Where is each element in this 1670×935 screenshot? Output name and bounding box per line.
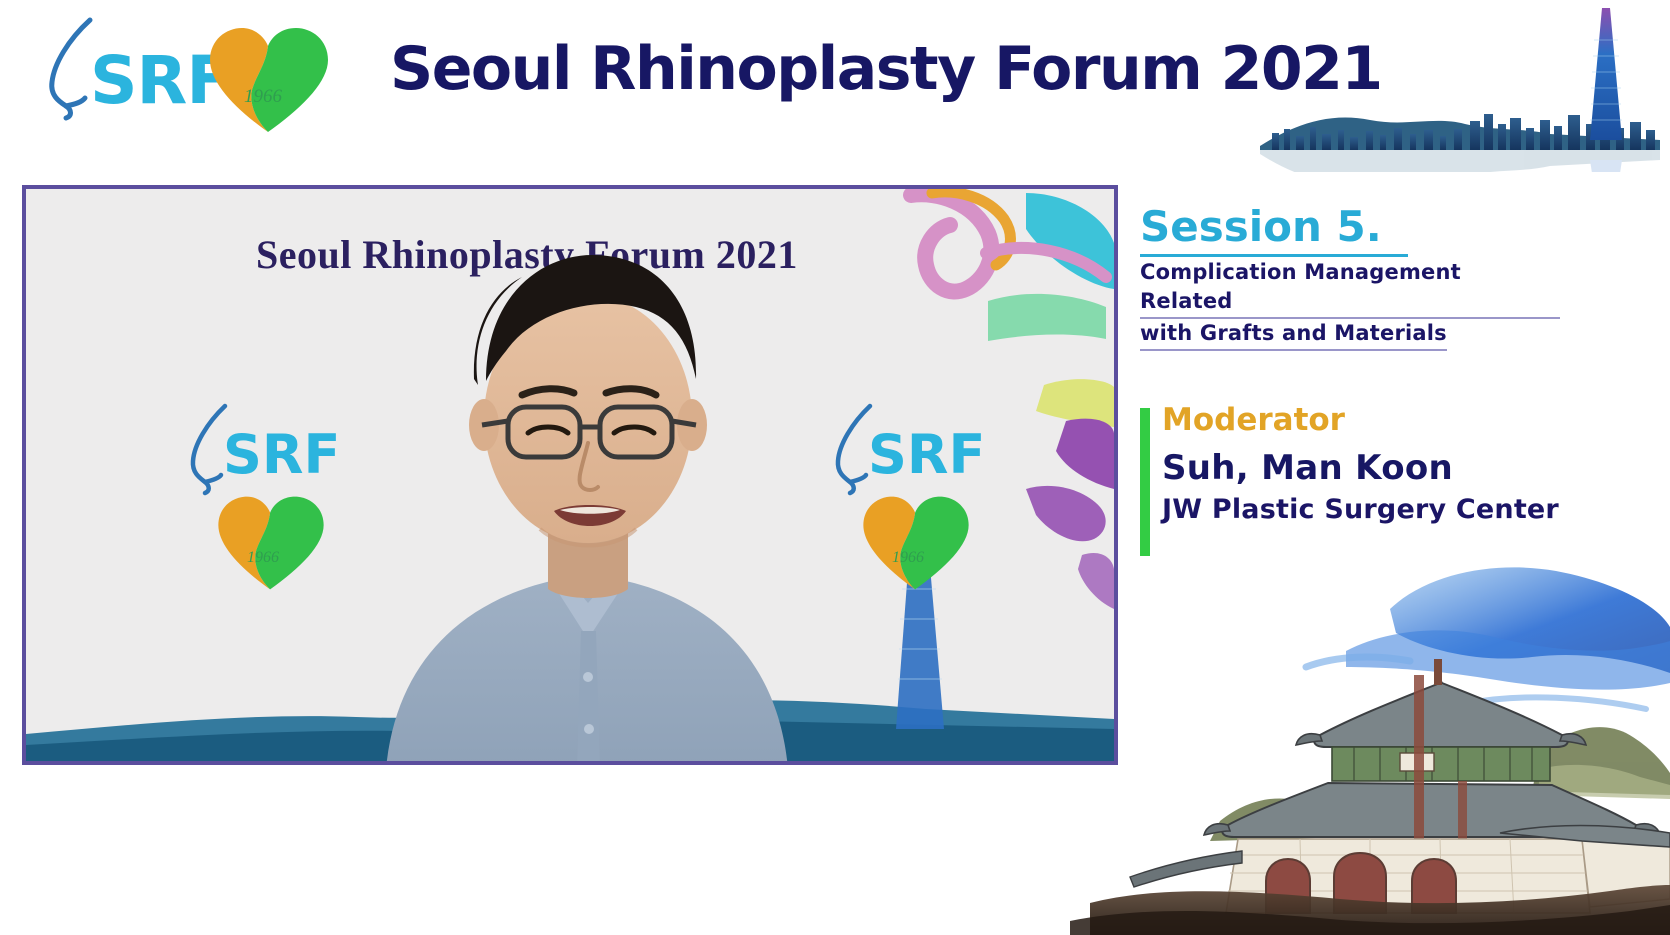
- moderator-accent-bar: [1140, 408, 1150, 556]
- session-number-heading: Session 5.: [1140, 202, 1382, 251]
- seoul-skyline-icon: [1250, 0, 1670, 172]
- moderator-affiliation: JW Plastic Surgery Center: [1162, 494, 1559, 525]
- moderator-role-label: Moderator: [1162, 402, 1345, 438]
- slide-heart-icon-left: 1966: [213, 493, 329, 593]
- session-topic-line-2: with Grafts and Materials: [1140, 319, 1447, 351]
- moderator-name: Suh, Man Koon: [1162, 448, 1453, 488]
- srf-heart-year: 1966: [244, 86, 282, 108]
- slide-srf-logo-right: SRF 1966: [826, 401, 1006, 601]
- session-heading-underline: [1140, 254, 1408, 257]
- gwanghwamun-gate-illustration: [1070, 555, 1670, 935]
- srf-heart-icon: 1966: [204, 24, 334, 136]
- slide-srf-wordmark: SRF: [868, 423, 985, 486]
- slide-srf-wordmark: SRF: [223, 423, 340, 486]
- page-title: Seoul Rhinoplasty Forum 2021: [390, 34, 1382, 104]
- session-topic-line-1: Complication Management Related: [1140, 258, 1560, 319]
- slide-heart-year-left: 1966: [247, 549, 279, 567]
- srf-logo: SRF 1966: [38, 14, 358, 134]
- presentation-stage: SRF 1966 Seoul Rhinoplasty Forum 2021: [0, 0, 1670, 935]
- video-feed-panel[interactable]: Seoul Rhinoplasty Forum 2021 SRF 1966: [22, 185, 1118, 765]
- session-topic: Complication Management Related with Gra…: [1140, 258, 1560, 351]
- header-bar: SRF 1966 Seoul Rhinoplasty Forum 2021: [0, 0, 1670, 172]
- speaker-webcam-feed: [326, 229, 846, 765]
- slide-heart-year-right: 1966: [892, 549, 924, 567]
- slide-heart-icon-right: 1966: [858, 493, 974, 593]
- session-info-sidebar: Session 5. Complication Management Relat…: [1128, 180, 1670, 600]
